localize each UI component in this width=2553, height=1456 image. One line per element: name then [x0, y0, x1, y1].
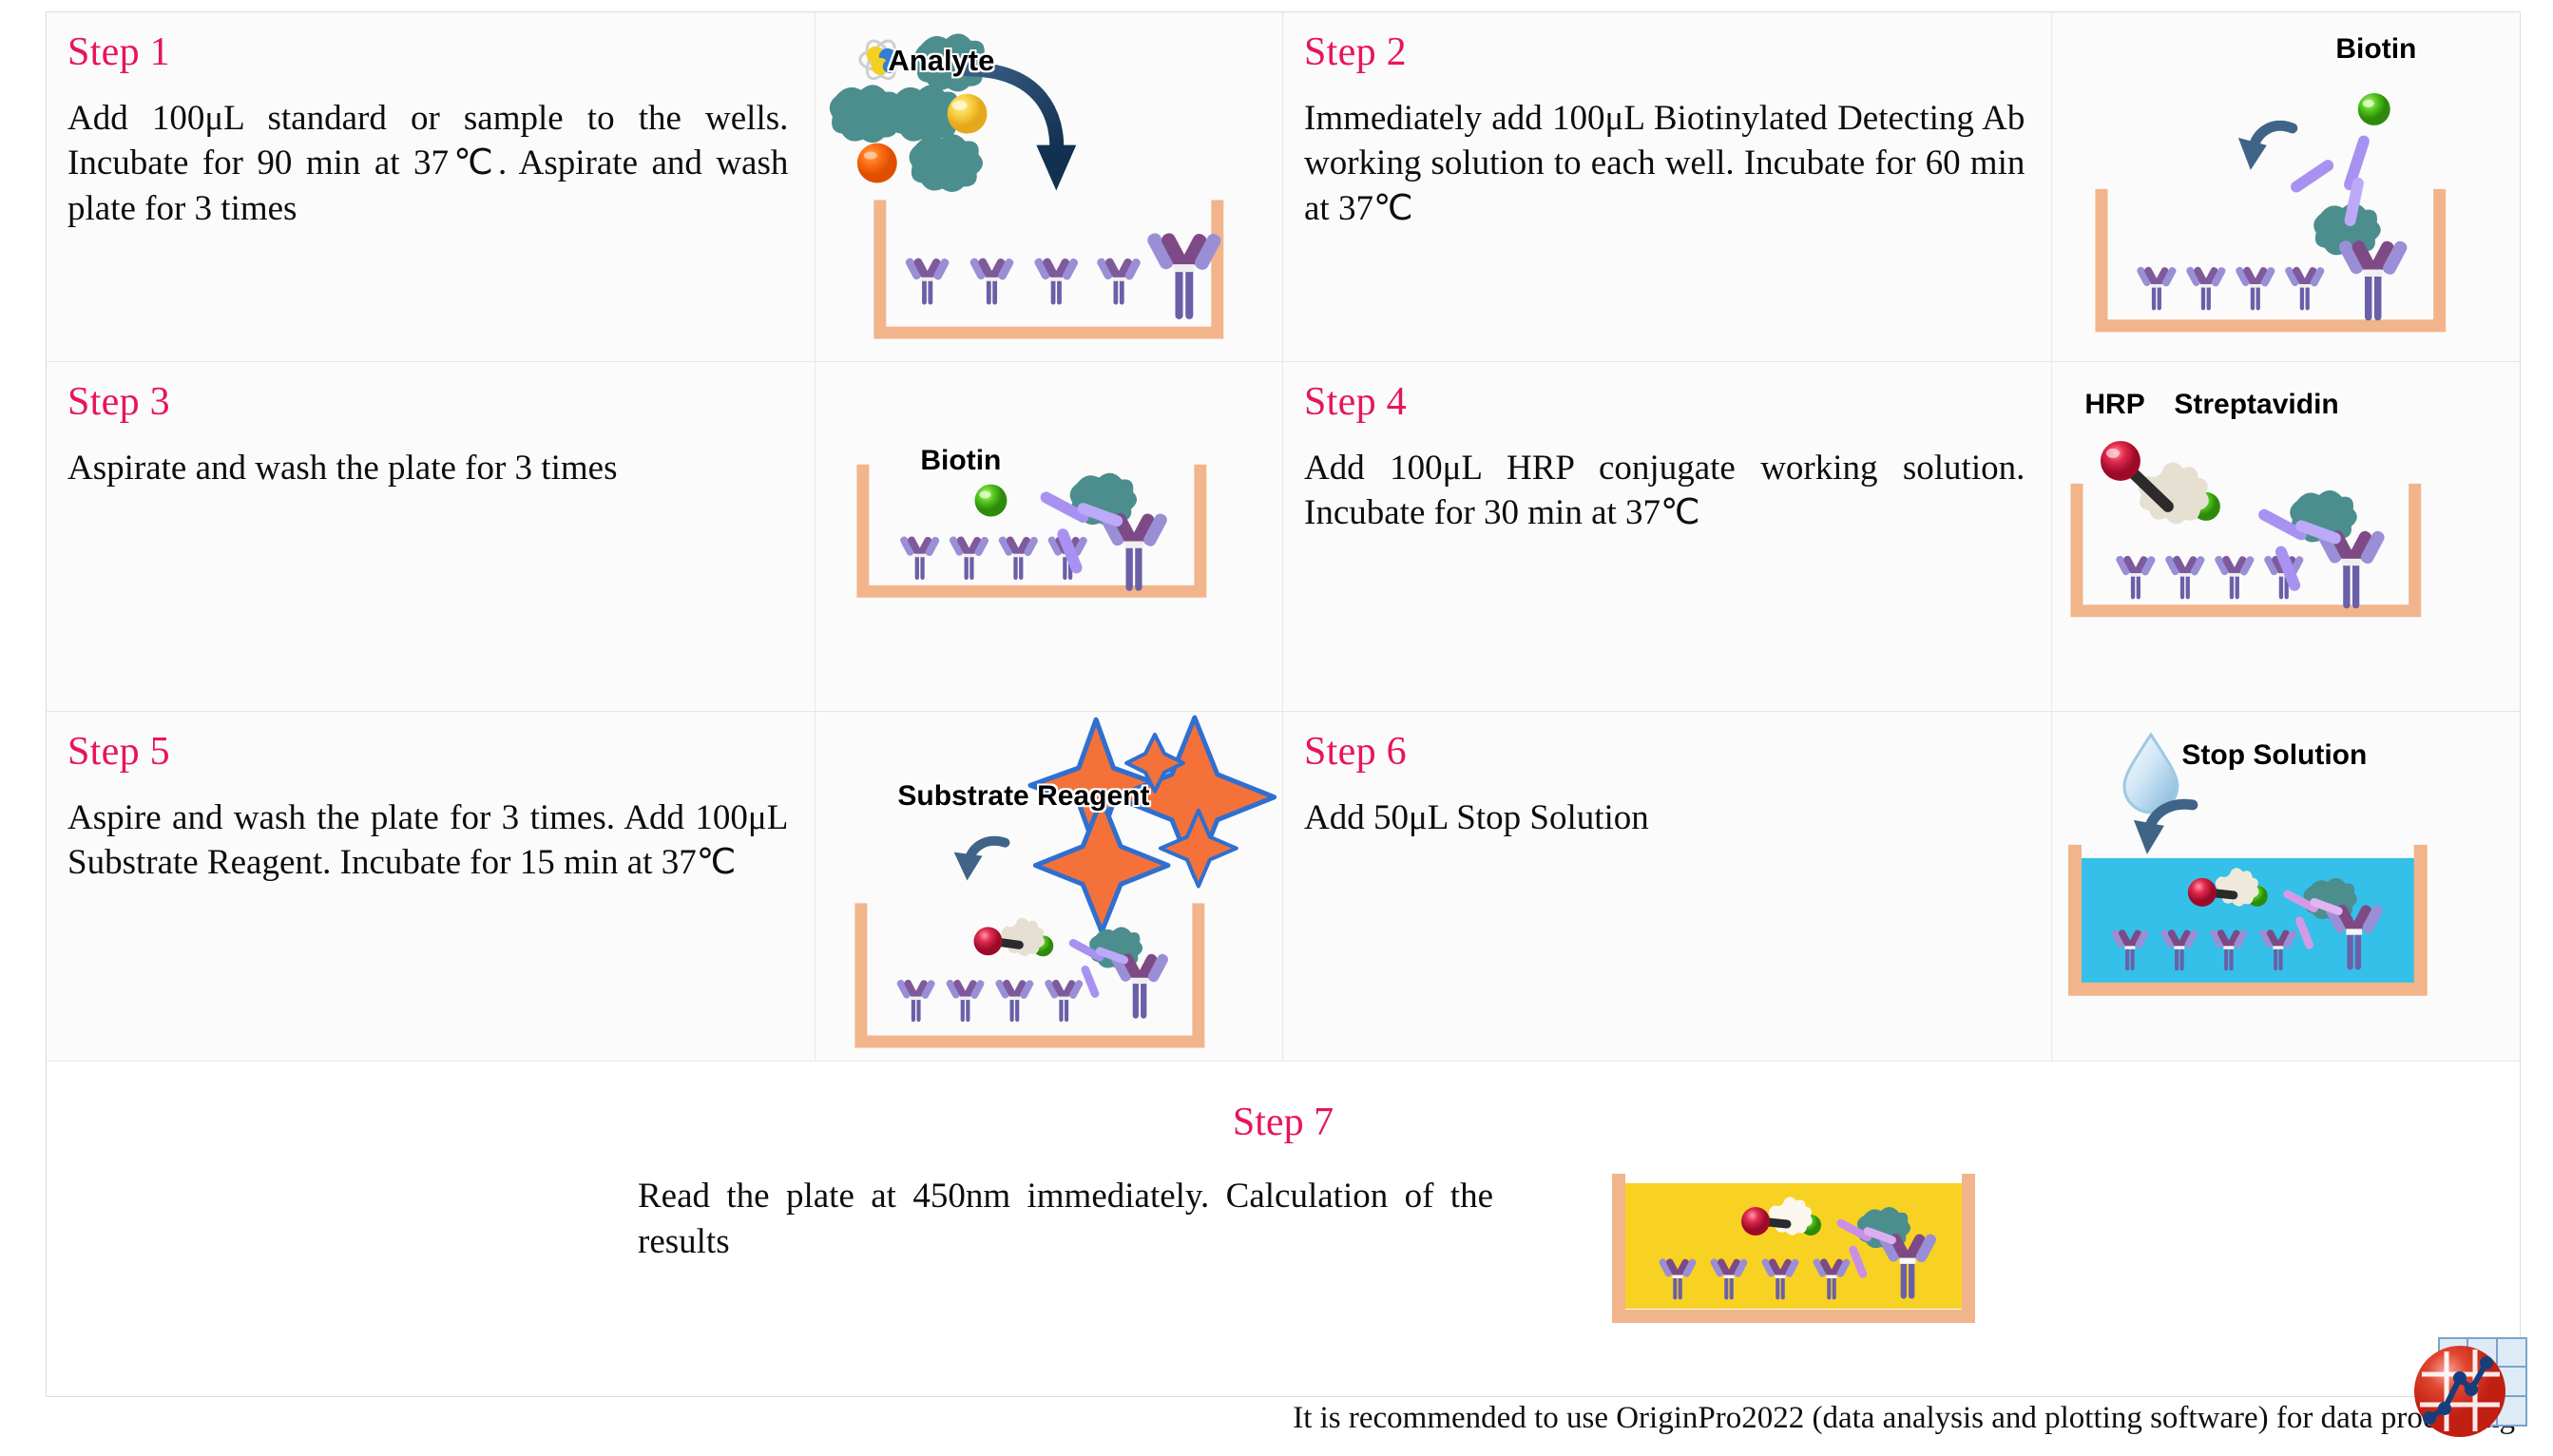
step-5-body: Aspire and wash the plate for 3 times. A…	[67, 795, 788, 886]
protocol-row-4: Step 7 Read the plate at 450nm immediate…	[47, 1062, 2520, 1396]
originpro-logo	[2410, 1336, 2532, 1443]
water-drop-icon	[2124, 735, 2178, 813]
step-4-body: Add 100μL HRP conjugate working solution…	[1304, 446, 2025, 536]
coated-antibody-row	[899, 535, 1088, 580]
streptavidin-label: Streptavidin	[2174, 389, 2338, 421]
hrp-sphere-icon	[974, 927, 1003, 955]
coated-antibody-row	[896, 979, 1085, 1022]
step-2-title: Step 2	[1304, 29, 1407, 75]
step-1-body: Add 100μL standard or sample to the well…	[67, 96, 788, 231]
step-3-text-cell: Step 3 Aspirate and wash the plate for 3…	[47, 362, 816, 711]
step-2-illustration	[2052, 12, 2520, 362]
step-3-title: Step 3	[67, 379, 170, 425]
hrp-sphere-icon	[2101, 441, 2140, 481]
coated-antibody-row	[2136, 266, 2326, 311]
footer: It is recommended to use OriginPro2022 (…	[0, 1399, 2553, 1456]
step-7-title: Step 7	[47, 1100, 2520, 1145]
orange-sphere-icon	[857, 144, 897, 183]
biotin-label: Biotin	[920, 445, 1001, 477]
step-4-text-cell: Step 4 Add 100μL HRP conjugate working s…	[1283, 362, 2052, 711]
step-5-text-cell: Step 5 Aspire and wash the plate for 3 t…	[47, 712, 816, 1061]
step-1-title: Step 1	[67, 29, 170, 75]
hrp-label: HRP	[2084, 389, 2144, 421]
step-3-illustration	[816, 362, 1282, 711]
streptavidin-icon	[1002, 918, 1046, 956]
yellow-sphere-icon	[948, 94, 988, 134]
protocol-sheet: Step 1 Add 100μL standard or sample to t…	[0, 0, 2553, 1456]
step-7-body: Read the plate at 450nm immediately. Cal…	[638, 1174, 1493, 1265]
step-5-illustration	[816, 712, 1282, 1061]
step-6-body: Add 50μL Stop Solution	[1304, 795, 2025, 840]
substrate-reagent-label: Substrate Reagent	[897, 780, 1149, 813]
down-curved-arrow-icon	[2238, 125, 2293, 170]
analyte-label: Analyte	[888, 44, 994, 78]
step-6-illustration-cell: Stop Solution	[2052, 712, 2520, 1061]
step-5-title: Step 5	[67, 729, 170, 775]
biotin-sphere-icon	[975, 485, 1008, 517]
substrate-sparkle-icon	[1030, 718, 1275, 931]
step-6-text-cell: Step 6 Add 50μL Stop Solution	[1283, 712, 2052, 1061]
stop-solution-label: Stop Solution	[2181, 739, 2367, 772]
step-1-illustration	[816, 12, 1282, 361]
step-4-title: Step 4	[1304, 379, 1407, 425]
step-5-illustration-cell: Substrate Reagent	[816, 712, 1283, 1061]
step-2-body: Immediately add 100μL Biotinylated Detec…	[1304, 96, 2025, 231]
protocol-grid: Step 1 Add 100μL standard or sample to t…	[46, 11, 2521, 1397]
step-7-illustration	[1596, 1153, 2005, 1343]
protocol-row-2: Step 3 Aspirate and wash the plate for 3…	[47, 362, 2520, 712]
step-7-cell: Step 7 Read the plate at 450nm immediate…	[47, 1062, 2520, 1396]
step-1-text-cell: Step 1 Add 100μL standard or sample to t…	[47, 12, 816, 361]
protocol-row-1: Step 1 Add 100μL standard or sample to t…	[47, 12, 2520, 362]
coated-antibody-row	[2115, 555, 2305, 600]
step-3-illustration-cell: Biotin	[816, 362, 1283, 711]
biotin-sphere-icon	[2358, 93, 2390, 125]
step-3-body: Aspirate and wash the plate for 3 times	[67, 446, 788, 490]
step-2-illustration-cell: Biotin	[2052, 12, 2520, 361]
down-curved-arrow-icon	[968, 69, 1077, 191]
hrp-sphere-icon	[2188, 878, 2217, 907]
step-1-illustration-cell: Analyte	[816, 12, 1283, 361]
step-4-illustration-cell: HRP Streptavidin	[2052, 362, 2520, 711]
coated-antibody-row	[905, 257, 1142, 304]
step-6-title: Step 6	[1304, 729, 1407, 775]
hrp-sphere-icon	[1741, 1207, 1770, 1236]
down-curved-arrow-icon	[954, 841, 1006, 881]
step-2-text-cell: Step 2 Immediately add 100μL Biotinylate…	[1283, 12, 2052, 361]
biotin-label: Biotin	[2335, 33, 2416, 66]
footer-note: It is recommended to use OriginPro2022 (…	[1293, 1401, 2515, 1436]
capture-antibody-icon	[2337, 239, 2409, 320]
protocol-row-3: Step 5 Aspire and wash the plate for 3 t…	[47, 712, 2520, 1062]
